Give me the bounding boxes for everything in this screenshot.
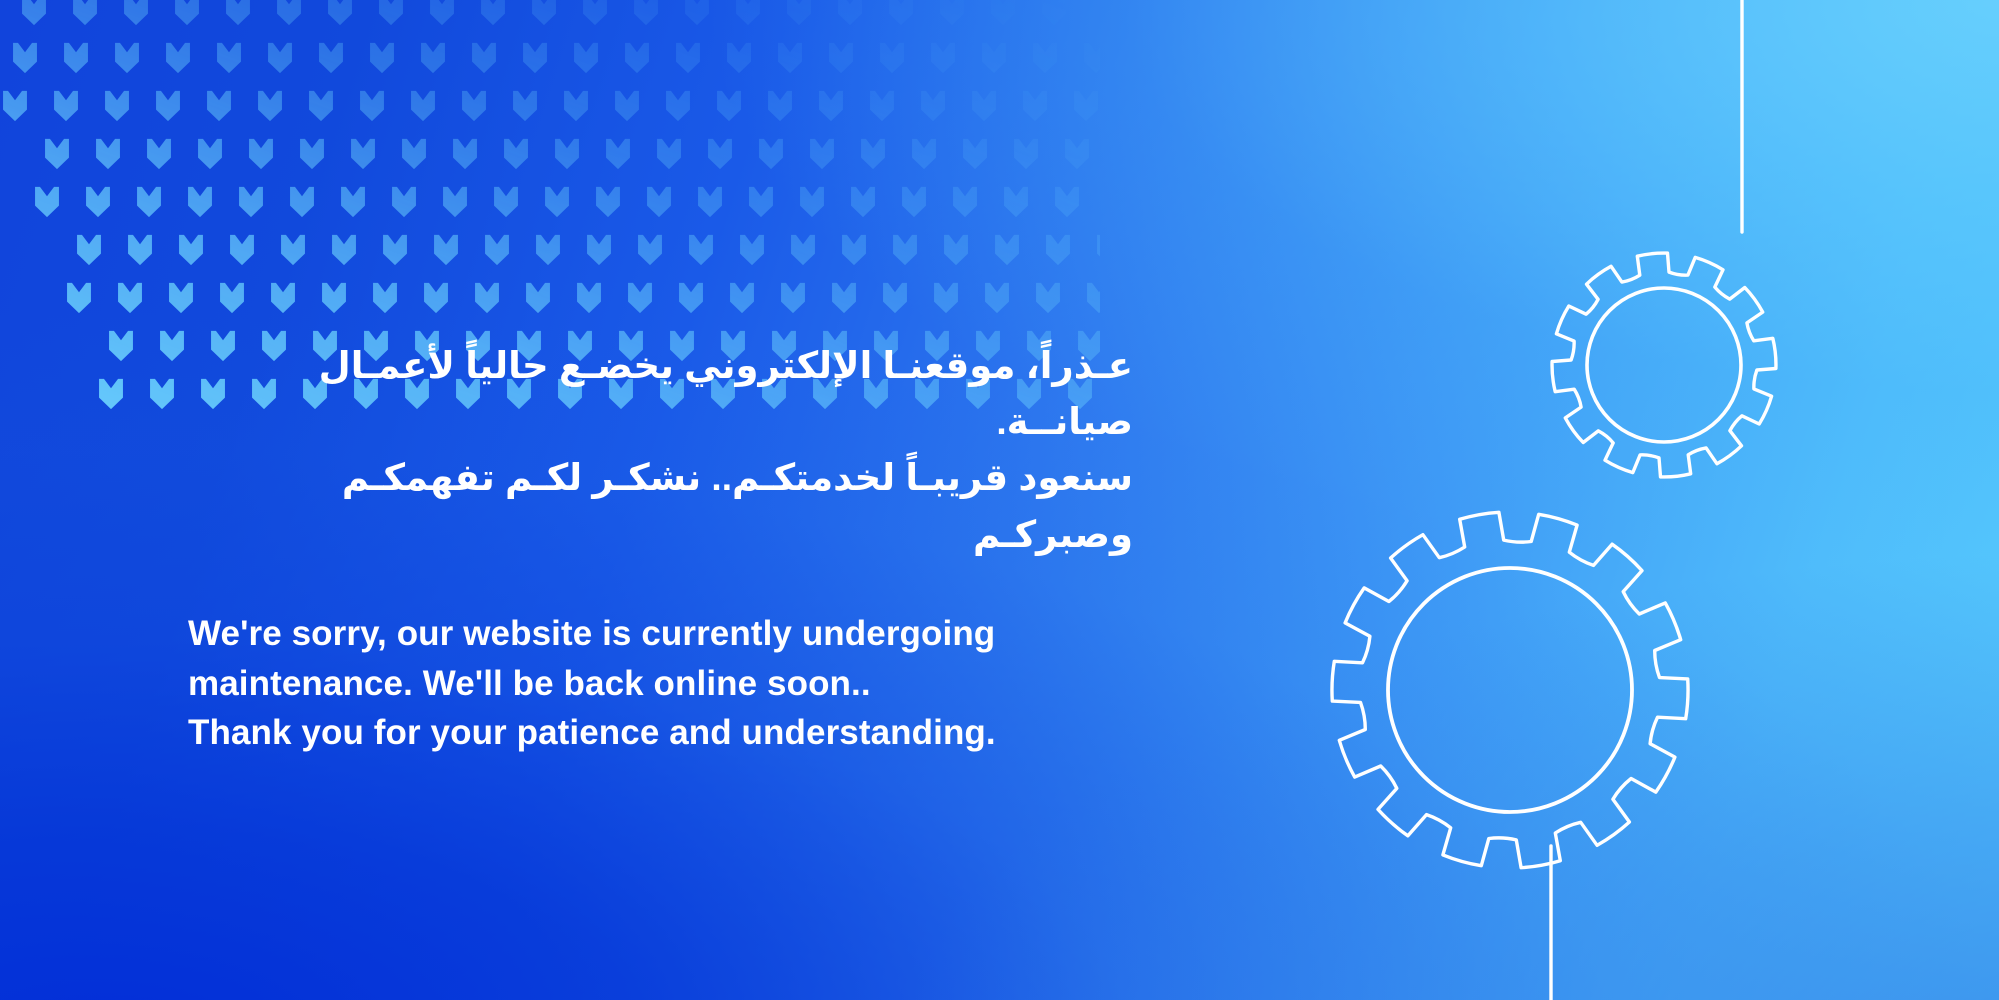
maintenance-message-english: We're sorry, our website is currently un… bbox=[188, 563, 1148, 758]
maintenance-message-arabic: عـذراً، موقعنـا الإلكتروني يخضـع حالياً … bbox=[188, 338, 1133, 563]
maintenance-page: عـذراً، موقعنـا الإلكتروني يخضـع حالياً … bbox=[0, 0, 1999, 1000]
maintenance-message-block: عـذراً، موقعنـا الإلكتروني يخضـع حالياً … bbox=[188, 338, 1148, 758]
